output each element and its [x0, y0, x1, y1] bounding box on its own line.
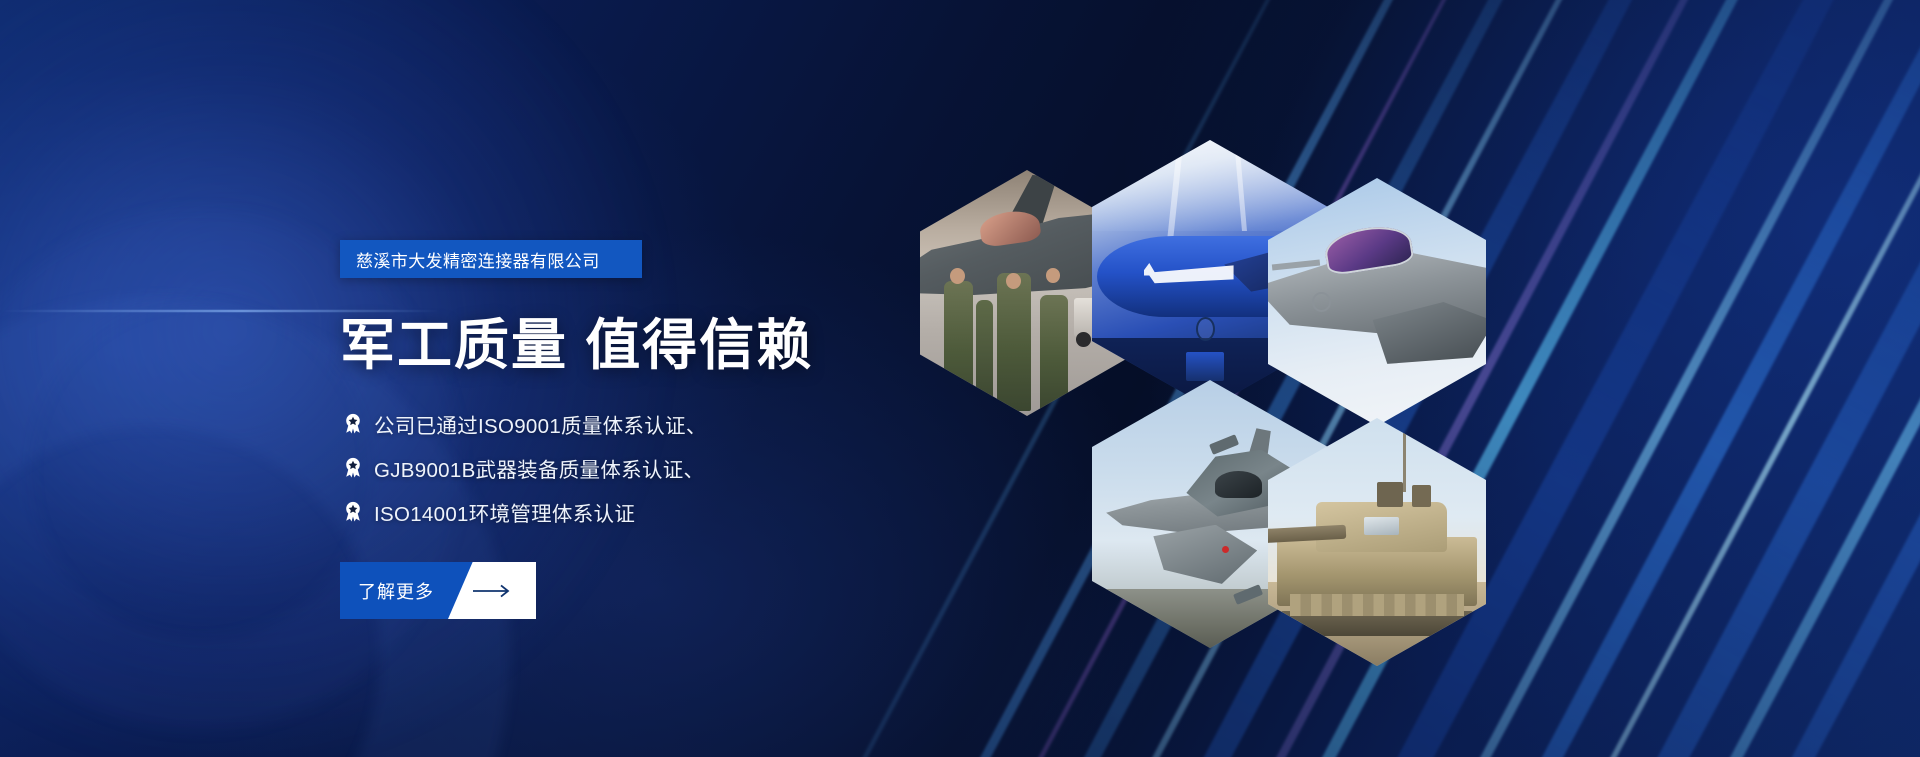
medal-icon — [342, 457, 364, 479]
learn-more-button[interactable]: 了解更多 — [340, 562, 536, 619]
list-item-label: ISO14001环境管理体系认证 — [374, 497, 635, 527]
light-streak — [1456, 0, 1920, 757]
hero-content: 慈溪市大发精密连接器有限公司 军工质量 值得信赖 公司已通过ISO9001质量体… — [340, 0, 1100, 757]
arrow-right-icon — [466, 562, 522, 619]
medal-icon — [342, 413, 364, 435]
list-item: ISO14001环境管理体系认证 — [342, 490, 1042, 533]
list-item-label: GJB9001B武器装备质量体系认证、 — [374, 453, 704, 483]
list-item: 公司已通过ISO9001质量体系认证、 — [342, 402, 1042, 445]
light-streak — [1519, 0, 1920, 757]
learn-more-label: 了解更多 — [358, 562, 434, 619]
certification-list: 公司已通过ISO9001质量体系认证、 GJB9001B武器装备质量体系认证、 — [342, 402, 1042, 534]
list-item-label: 公司已通过ISO9001质量体系认证、 — [374, 409, 707, 439]
hero-banner: 慈溪市大发精密连接器有限公司 军工质量 值得信赖 公司已通过ISO9001质量体… — [0, 0, 1920, 757]
company-name-label: 慈溪市大发精密连接器有限公司 — [356, 247, 600, 272]
medal-icon — [342, 501, 364, 523]
list-item: GJB9001B武器装备质量体系认证、 — [342, 446, 1042, 489]
company-name-badge: 慈溪市大发精密连接器有限公司 — [340, 240, 642, 278]
page-title: 军工质量 值得信赖 — [340, 300, 813, 380]
